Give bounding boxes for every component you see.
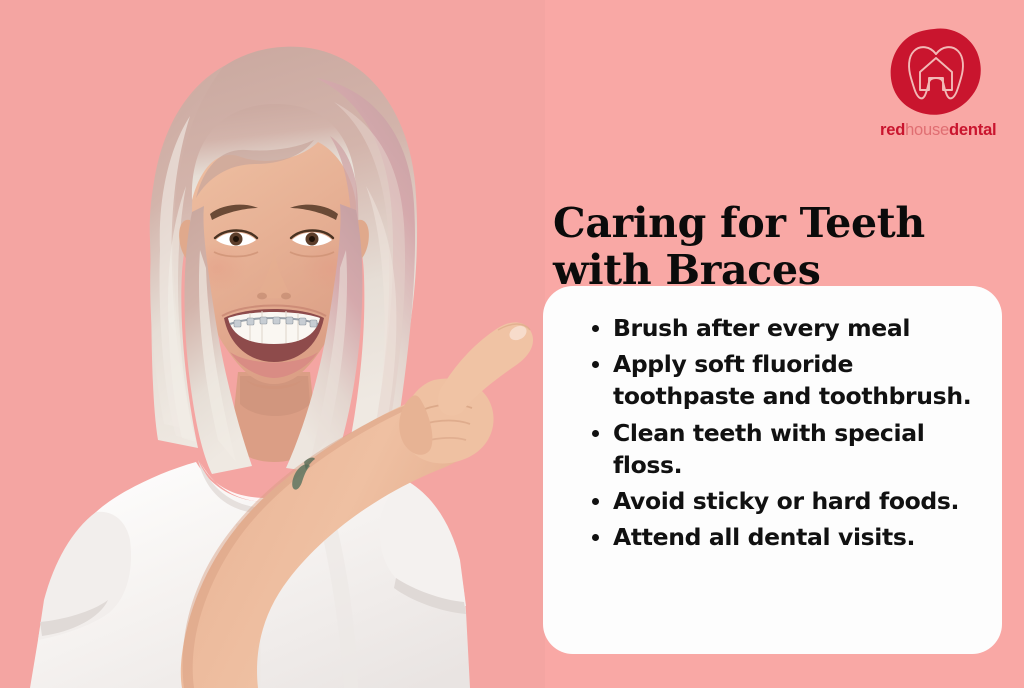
- wordmark-red: red: [880, 121, 905, 139]
- wordmark-house: house: [905, 121, 949, 139]
- tips-card: Brush after every meal Apply soft fluori…: [543, 286, 1002, 654]
- brand-wordmark: redhousedental: [880, 122, 992, 139]
- title-line-1: Caring for Teeth: [553, 200, 983, 246]
- list-item: Brush after every meal: [591, 312, 984, 344]
- list-item: Apply soft fluoride toothpaste and tooth…: [591, 348, 984, 412]
- tooth-house-icon: [890, 28, 982, 116]
- list-item: Attend all dental visits.: [591, 521, 984, 553]
- list-item: Clean teeth with special floss.: [591, 417, 984, 481]
- tips-list: Brush after every meal Apply soft fluori…: [543, 286, 1002, 553]
- wordmark-dental: dental: [949, 121, 996, 139]
- page-title: Caring for Teeth with Braces: [553, 200, 983, 293]
- hero-photo: [0, 0, 545, 688]
- brand-logo[interactable]: redhousedental: [880, 26, 992, 146]
- list-item: Avoid sticky or hard foods.: [591, 485, 984, 517]
- poster-canvas: redhousedental Caring for Teeth with Bra…: [0, 0, 1024, 688]
